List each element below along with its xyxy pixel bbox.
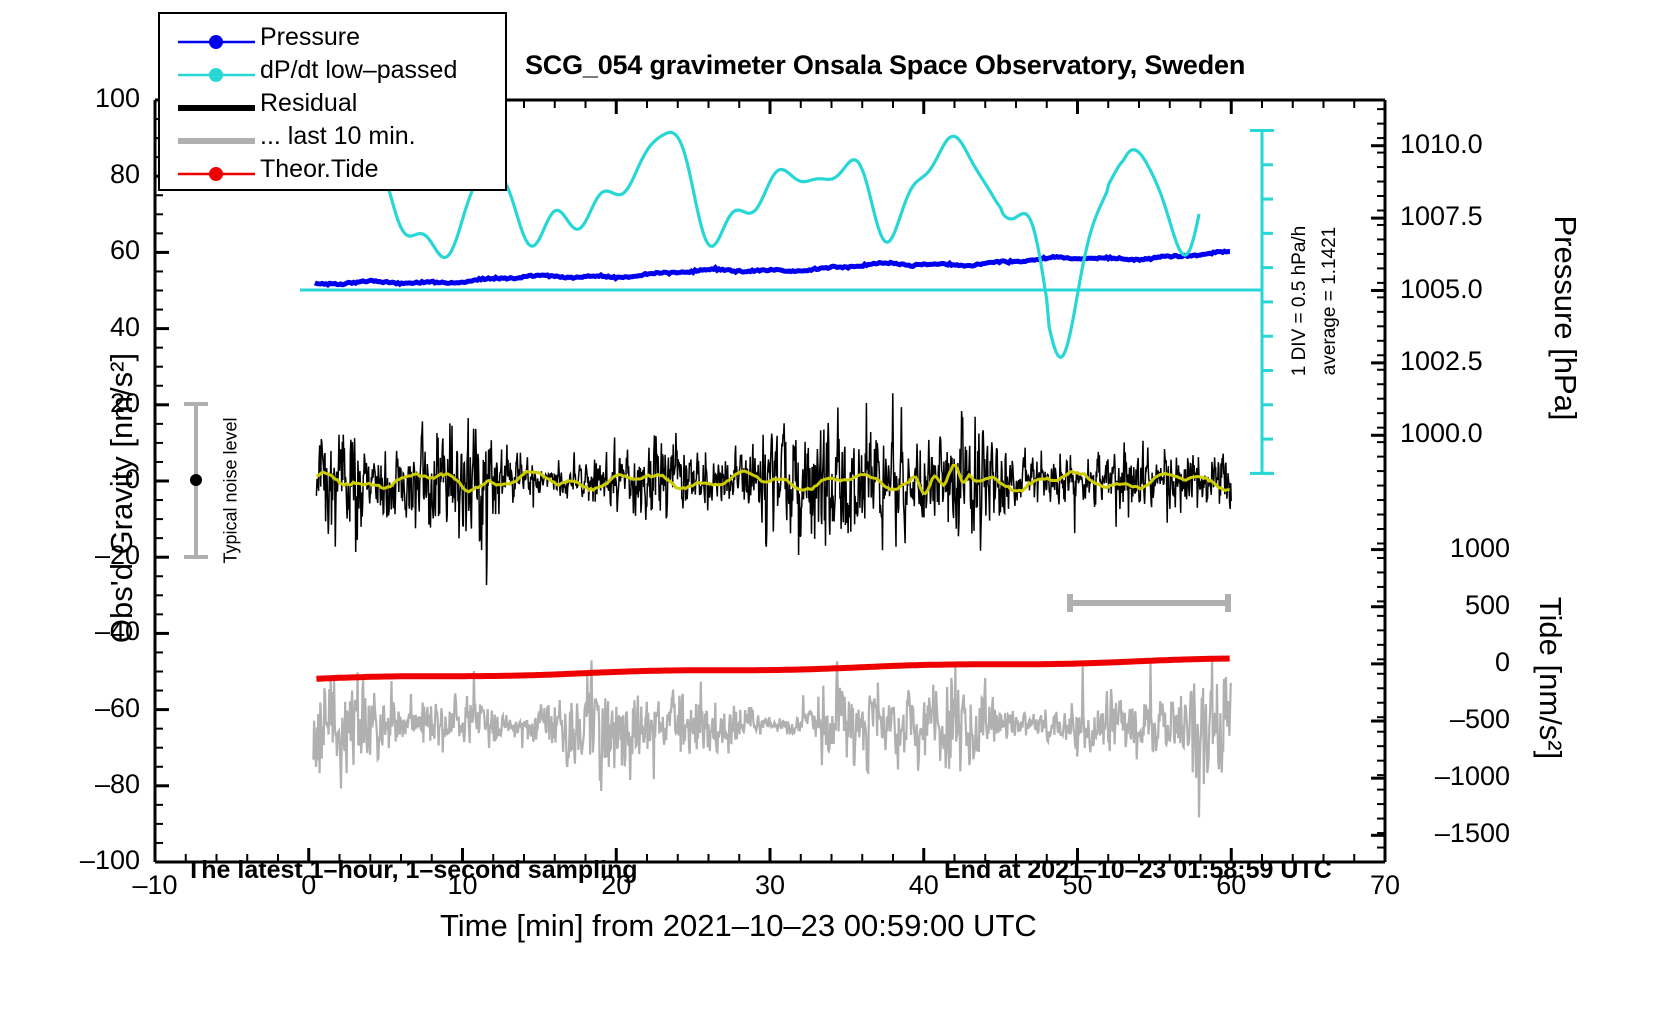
tide-tick-4: –1000 xyxy=(1400,761,1510,792)
tide-tick-1: 500 xyxy=(1400,590,1510,621)
footer-note-right: End at 2021–10–23 01:58:59 UTC xyxy=(944,856,1332,885)
legend-label-residual: Residual xyxy=(260,89,357,118)
pressure-tick-4: 1000.0 xyxy=(1400,418,1483,449)
legend-label-last10: ... last 10 min. xyxy=(260,122,416,151)
y-axis-tick-1: 80 xyxy=(40,159,140,190)
pressure-tick-0: 1010.0 xyxy=(1400,129,1483,160)
tide-tick-0: 1000 xyxy=(1400,533,1510,564)
dpdt-average-label: average = 1.1421 xyxy=(1319,206,1341,396)
y-axis-label-tide: Tide [nm/s²] xyxy=(1532,528,1568,828)
y-axis-tick-7: –40 xyxy=(40,616,140,647)
tide-tick-3: –500 xyxy=(1400,704,1510,735)
y-axis-tick-2: 60 xyxy=(40,235,140,266)
y-axis-tick-8: –60 xyxy=(40,693,140,724)
x-axis-tick-8: 70 xyxy=(1325,870,1445,901)
gravimeter-plot-page: SCG_054 gravimeter Onsala Space Observat… xyxy=(0,0,1660,1020)
dpdt-division-label: 1 DIV = 0.5 hPa/h xyxy=(1289,206,1311,396)
y-axis-tick-5: 0 xyxy=(40,464,140,495)
y-axis-tick-9: –80 xyxy=(40,769,140,800)
y-axis-label-pressure: Pressure [hPa] xyxy=(1547,148,1583,488)
pressure-tick-1: 1007.5 xyxy=(1400,201,1483,232)
y-axis-tick-3: 40 xyxy=(40,312,140,343)
y-axis-tick-0: 100 xyxy=(40,83,140,114)
legend-label-theortide: Theor.Tide xyxy=(260,155,379,184)
footer-note-left: The latest 1–hour, 1–second sampling xyxy=(186,856,638,885)
legend-label-pressure: Pressure xyxy=(260,23,360,52)
x-axis-tick-4: 30 xyxy=(710,870,830,901)
y-axis-tick-6: –20 xyxy=(40,540,140,571)
tide-tick-5: –1500 xyxy=(1400,818,1510,849)
pressure-tick-2: 1005.0 xyxy=(1400,274,1483,305)
tide-tick-2: 0 xyxy=(1400,647,1510,678)
typical-noise-level-label: Typical noise level xyxy=(221,391,242,591)
chart-title: SCG_054 gravimeter Onsala Space Observat… xyxy=(525,50,1245,81)
legend-label-dpdt: dP/dt low–passed xyxy=(260,56,457,85)
y-axis-tick-4: 20 xyxy=(40,388,140,419)
x-axis-label: Time [min] from 2021–10–23 00:59:00 UTC xyxy=(440,908,1037,944)
pressure-tick-3: 1002.5 xyxy=(1400,346,1483,377)
